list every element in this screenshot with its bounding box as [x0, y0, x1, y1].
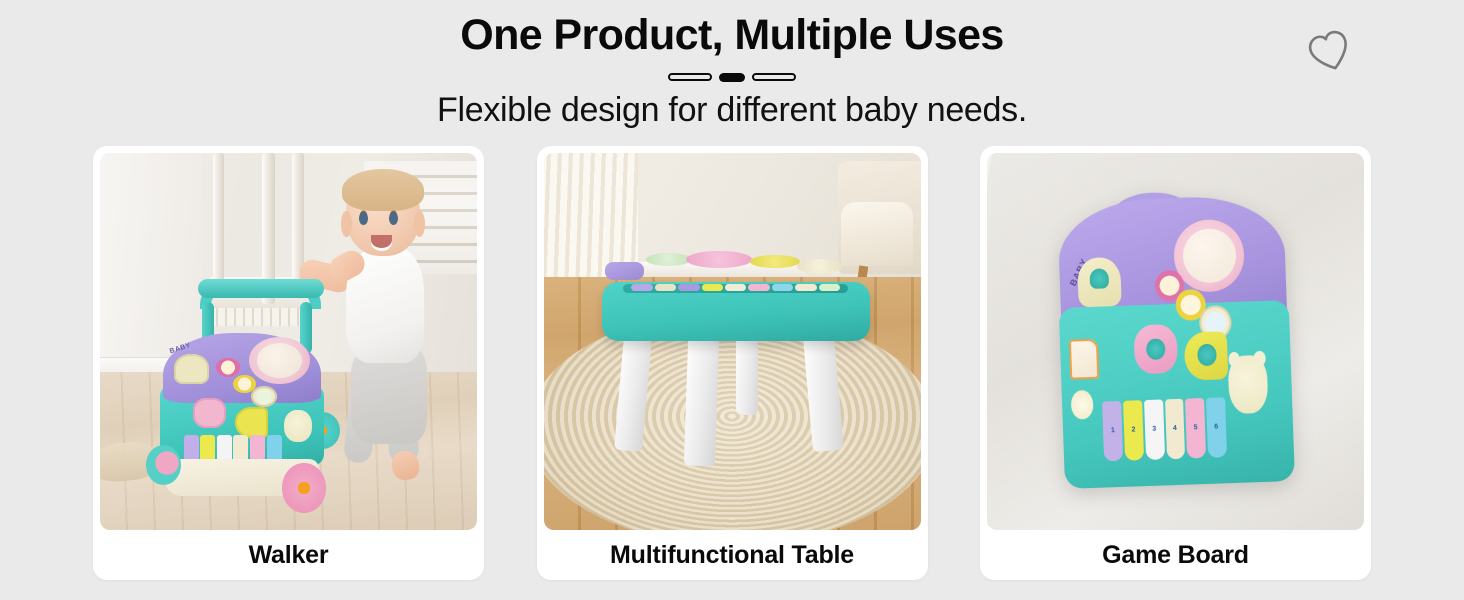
activity-table [596, 259, 875, 455]
key-number: 6 [1215, 424, 1219, 431]
game-board-piano-keys: 1 2 3 4 5 6 [1103, 397, 1227, 461]
heart-outline-icon [1304, 26, 1356, 78]
product-card-list: BABY [93, 146, 1371, 580]
product-card-walker[interactable]: BABY [93, 146, 484, 580]
walker-photo: BABY [100, 153, 477, 530]
card-label-table: Multifunctional Table [544, 530, 921, 580]
banner-header: One Product, Multiple Uses Flexible desi… [0, 0, 1464, 140]
divider-pill-right [752, 73, 796, 81]
key-number: 1 [1111, 428, 1115, 435]
key-number: 2 [1132, 427, 1136, 434]
promo-banner: One Product, Multiple Uses Flexible desi… [0, 0, 1464, 600]
key-number: 3 [1153, 426, 1157, 433]
table-photo [544, 153, 921, 530]
card-label-game-board: Game Board [987, 530, 1364, 580]
pill-divider-icon [667, 71, 797, 83]
divider-pill-left [668, 73, 712, 81]
key-number: 4 [1173, 426, 1177, 433]
product-card-table[interactable]: Multifunctional Table [537, 146, 928, 580]
walker-toy: BABY [141, 281, 375, 515]
game-board-toy: BABY 1 2 3 [1057, 194, 1293, 488]
page-subtitle: Flexible design for different baby needs… [0, 89, 1464, 131]
page-title: One Product, Multiple Uses [0, 0, 1464, 60]
card-label-walker: Walker [100, 530, 477, 580]
table-xylophone-bars [631, 284, 840, 291]
product-card-game-board[interactable]: BABY 1 2 3 [980, 146, 1371, 580]
divider-pill-center [719, 73, 745, 82]
key-number: 5 [1194, 425, 1198, 432]
game-board-photo: BABY 1 2 3 [987, 153, 1364, 530]
